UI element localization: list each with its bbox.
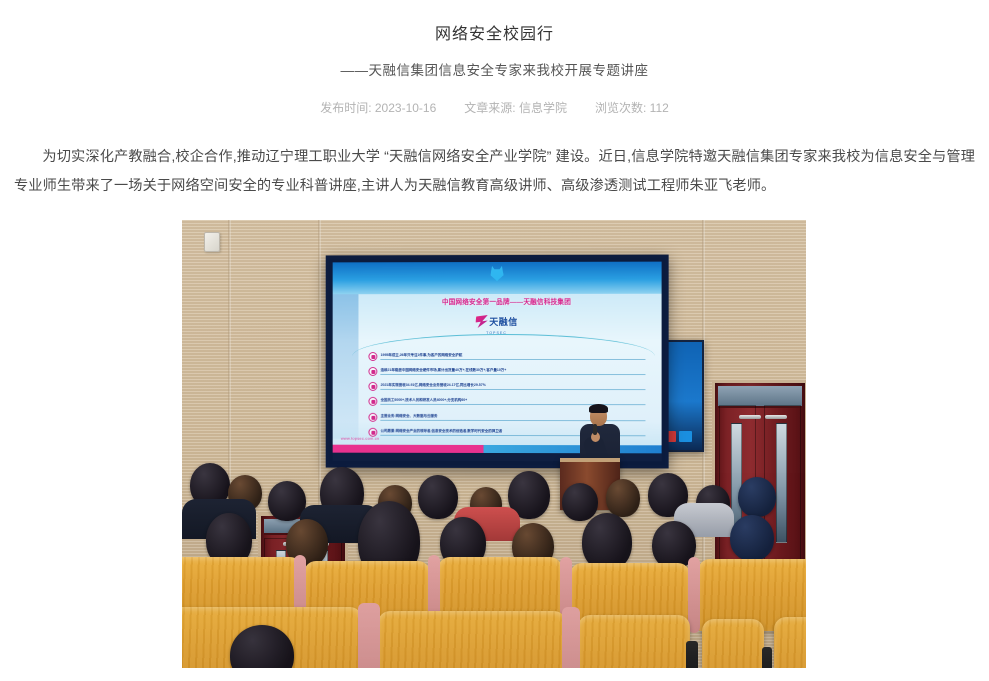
meta-publish-time: 发布时间: 2023-10-16 (320, 99, 436, 117)
slide-bullet-item: 2021年实现营收34.91亿,网络安全业务营收24.17亿,同比增长29.57… (369, 382, 645, 391)
meta-views-value: 112 (650, 101, 669, 115)
slide-bullet-text: 2021年实现营收34.91亿,网络安全业务营收24.17亿,同比增长29.57… (381, 383, 646, 390)
slide-bullet-text: 连续21年稳居中国网络安全硬件市场,累计出货量40万+,在线数30万+,客户量1… (381, 368, 646, 375)
meta-source: 文章来源: 信息学院 (464, 99, 567, 117)
door-handle (765, 415, 787, 419)
topsec-logo-mark-icon (475, 315, 488, 328)
audience-head (606, 479, 640, 517)
meta-views: 浏览次数: 112 (595, 99, 669, 117)
topsec-logo-word: 天融信 (489, 315, 518, 328)
slide-bullet-item: 1995年成立,26年只专注1件事,为客户的网络安全护航 (369, 352, 645, 361)
slide-watermark-url: www.topsec.com.cn (341, 436, 379, 441)
auditorium-chair (774, 617, 806, 668)
meta-source-value: 信息学院 (519, 101, 567, 115)
slide-title: 中国网络安全第一品牌——天融信科技集团 (365, 299, 648, 307)
audience-head (418, 475, 458, 519)
slide-bullet-item: 连续21年稳居中国网络安全硬件市场,累计出货量40万+,在线数30万+,客户量1… (369, 367, 645, 376)
topsec-logo: 天融信 TOPSEC (475, 313, 518, 335)
meta-views-label: 浏览次数: (595, 101, 646, 115)
article-page: 网络安全校园行 ——天融信集团信息安全专家来我校开展专题讲座 发布时间: 202… (0, 0, 989, 681)
article-photo-figure: 教育 中国网络安全第一品牌——天融信科技集团 天融信 TOPSEC (182, 220, 806, 668)
bullet-marker-icon (369, 382, 378, 391)
bullet-marker-icon (369, 367, 378, 376)
auditorium-chair (702, 619, 764, 668)
bullet-marker-icon (369, 352, 378, 361)
audience-head (730, 515, 774, 561)
article-subtitle: ——天融信集团信息安全专家来我校开展专题讲座 (0, 46, 989, 81)
presenter-hair (589, 404, 608, 413)
meta-source-label: 文章来源: (464, 101, 515, 115)
slide-left-band (333, 294, 359, 439)
audience-head (562, 483, 598, 521)
auditorium-chair (578, 615, 690, 668)
chair-armrest (762, 647, 772, 668)
meta-publish-value: 2023-10-16 (375, 101, 436, 115)
wall-speaker-icon (204, 232, 220, 252)
bullet-marker-icon (369, 397, 378, 406)
meta-publish-label: 发布时间: (320, 101, 371, 115)
microphone-icon (593, 424, 597, 435)
bullet-marker-icon (369, 413, 378, 422)
page-title: 网络安全校园行 (0, 0, 989, 46)
audience-head (738, 477, 776, 517)
side-panel-chip (679, 431, 692, 442)
door-handle (739, 415, 761, 419)
article-meta: 发布时间: 2023-10-16文章来源: 信息学院浏览次数: 112 (0, 81, 989, 117)
auditorium-chair (378, 611, 566, 668)
chair-side-panel (562, 607, 580, 668)
chair-side-panel (688, 557, 700, 633)
article-body-paragraph: 为切实深化产教融合,校企合作,推动辽宁理工职业大学 “天融信网络安全产业学院” … (0, 117, 989, 201)
lecture-hall-photo: 教育 中国网络安全第一品牌——天融信科技集团 天融信 TOPSEC (182, 220, 806, 668)
chair-armrest (686, 641, 698, 668)
audience-seating (182, 457, 806, 668)
slide-bullet-text: 1995年成立,26年只专注1件事,为客户的网络安全护航 (381, 353, 646, 360)
chair-side-panel (358, 603, 380, 668)
